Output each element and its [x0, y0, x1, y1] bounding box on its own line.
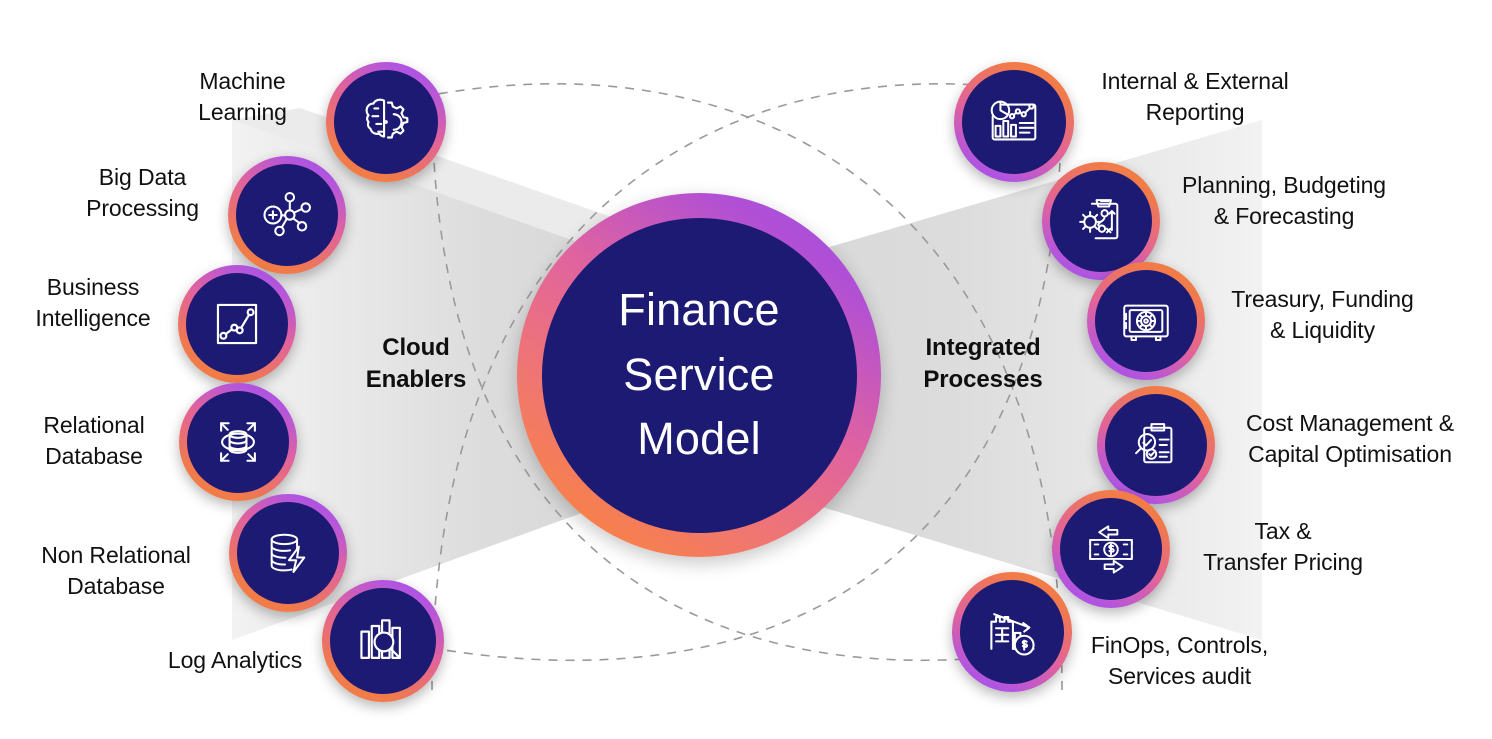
dashboard-report-icon — [983, 91, 1045, 153]
node-log-analytics-inner — [330, 588, 436, 694]
node-label-big-data-processing: Big Data Processing — [60, 162, 225, 223]
section-label-cloud-enablers: Cloud Enablers — [318, 332, 514, 396]
node-non-relational-database-inner — [237, 502, 339, 604]
node-internal-external-reporting-inner — [962, 70, 1066, 174]
node-relational-database[interactable] — [179, 383, 297, 501]
finance-service-model-diagram: Finance Service Model Cloud Enablers Int… — [0, 0, 1492, 739]
node-label-non-relational-database: Non Relational Database — [18, 540, 214, 601]
node-label-finops-controls-services-audit: FinOps, Controls, Services audit — [1062, 630, 1297, 691]
brain-gear-icon — [355, 91, 417, 153]
banknote-exchange-icon — [1082, 520, 1140, 578]
clipboard-audit-magnifier-icon — [1127, 416, 1185, 474]
node-label-business-intelligence: Business Intelligence — [8, 272, 178, 333]
node-non-relational-database[interactable] — [229, 494, 347, 612]
node-treasury-funding-liquidity-inner — [1095, 270, 1197, 372]
node-log-analytics[interactable] — [322, 580, 444, 702]
node-label-treasury-funding-liquidity: Treasury, Funding & Liquidity — [1200, 284, 1445, 345]
node-big-data-processing[interactable] — [228, 156, 346, 274]
node-finops-controls-services-audit[interactable] — [952, 572, 1072, 692]
node-label-internal-external-reporting: Internal & External Reporting — [1070, 66, 1320, 127]
center-hub: Finance Service Model — [517, 193, 881, 557]
clipboard-strategy-gear-icon — [1072, 192, 1130, 250]
node-label-cost-management-capital-optimisation: Cost Management & Capital Optimisation — [1210, 408, 1490, 469]
node-treasury-funding-liquidity[interactable] — [1087, 262, 1205, 380]
node-machine-learning[interactable] — [326, 62, 446, 182]
node-relational-database-inner — [187, 391, 289, 493]
node-label-tax-transfer-pricing: Tax & Transfer Pricing — [1163, 516, 1403, 577]
node-tax-transfer-pricing-inner — [1060, 498, 1162, 600]
page-title: Finance Service Model — [618, 278, 780, 472]
database-scale-arrows-icon — [208, 412, 268, 472]
node-cost-management-capital-optimisation-inner — [1105, 394, 1207, 496]
node-machine-learning-inner — [334, 70, 438, 174]
node-label-machine-learning: Machine Learning — [160, 66, 325, 127]
node-planning-budgeting-forecasting-inner — [1050, 170, 1152, 272]
node-tax-transfer-pricing[interactable] — [1052, 490, 1170, 608]
node-cost-management-capital-optimisation[interactable] — [1097, 386, 1215, 504]
node-label-relational-database: Relational Database — [10, 410, 178, 471]
line-chart-frame-icon — [208, 295, 266, 353]
node-label-log-analytics: Log Analytics — [150, 645, 320, 676]
node-label-planning-budgeting-forecasting: Planning, Budgeting & Forecasting — [1158, 170, 1410, 231]
node-internal-external-reporting[interactable] — [954, 62, 1074, 182]
node-big-data-processing-inner — [236, 164, 338, 266]
node-business-intelligence[interactable] — [178, 265, 296, 383]
network-nodes-plus-icon — [257, 185, 317, 245]
database-bolt-icon — [259, 524, 317, 582]
section-label-integrated-processes: Integrated Processes — [885, 332, 1081, 396]
bars-magnifier-icon — [353, 611, 413, 671]
center-hub-inner: Finance Service Model — [542, 218, 857, 533]
safe-vault-icon — [1117, 292, 1175, 350]
factory-chart-dollar-icon — [982, 602, 1042, 662]
node-finops-controls-services-audit-inner — [960, 580, 1064, 684]
node-business-intelligence-inner — [186, 273, 288, 375]
